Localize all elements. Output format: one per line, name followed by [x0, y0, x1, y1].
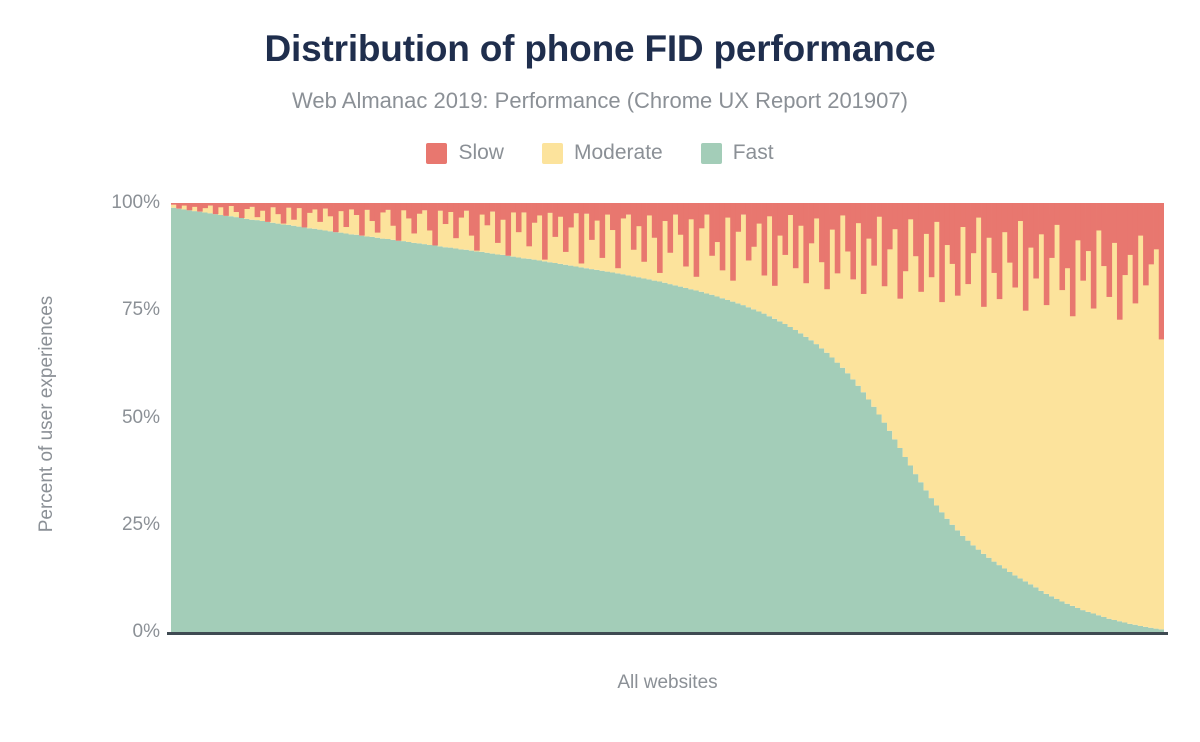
legend-item-fast[interactable]: Fast [701, 141, 774, 165]
y-tick-50: 50% [98, 407, 160, 429]
y-tick-75: 75% [98, 299, 160, 321]
y-axis-label: Percent of user experiences [36, 194, 58, 634]
chart-subtitle: Web Almanac 2019: Performance (Chrome UX… [0, 88, 1200, 114]
legend-swatch-slow-icon [426, 143, 447, 164]
legend-label: Slow [458, 141, 504, 165]
chart-container: Distribution of phone FID performance We… [0, 0, 1200, 742]
x-axis-line [167, 632, 1168, 635]
y-tick-0: 0% [98, 621, 160, 643]
chart-title: Distribution of phone FID performance [0, 28, 1200, 70]
chart-legend: SlowModerateFast [0, 141, 1200, 165]
legend-label: Moderate [574, 141, 663, 165]
plot-area [171, 203, 1164, 632]
y-tick-100: 100% [98, 192, 160, 214]
x-axis-label: All websites [171, 672, 1164, 694]
legend-swatch-moderate-icon [542, 143, 563, 164]
y-tick-25: 25% [98, 514, 160, 536]
legend-item-slow[interactable]: Slow [426, 141, 504, 165]
legend-item-moderate[interactable]: Moderate [542, 141, 663, 165]
legend-swatch-fast-icon [701, 143, 722, 164]
stacked-bars [171, 203, 1164, 632]
legend-label: Fast [733, 141, 774, 165]
